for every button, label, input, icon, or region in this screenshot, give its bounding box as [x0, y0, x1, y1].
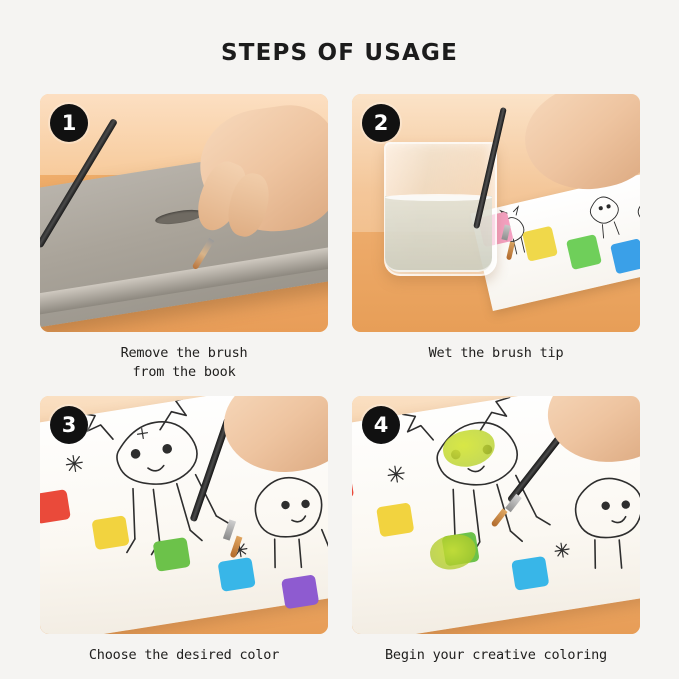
page-title: STEPS OF USAGE	[0, 40, 679, 66]
swatch-red	[352, 467, 355, 502]
caption-line-1: Remove the brush	[40, 344, 328, 363]
swatch-blue	[609, 239, 640, 275]
swatch-yellow	[521, 226, 557, 262]
paint-stroke	[441, 427, 498, 471]
caption-line-1: Wet the brush tip	[352, 344, 640, 363]
swatch-yellow	[376, 502, 414, 537]
swatch-blue	[218, 557, 256, 592]
swatch-blue	[511, 556, 549, 591]
step-2-photo: 2	[352, 94, 640, 332]
steps-grid: 1 Remove the brush from the book	[40, 94, 640, 665]
swatch-red	[40, 489, 71, 524]
step-number-badge-4: 4	[362, 406, 400, 444]
step-4-photo: 4	[352, 396, 640, 634]
swatch-green-selected	[153, 536, 191, 571]
step-3-photo: 3	[40, 396, 328, 634]
swatch-green	[566, 234, 602, 270]
step-4-caption: Begin your creative coloring	[352, 646, 640, 665]
step-card-3: 3 Choose the desired color	[40, 396, 328, 665]
step-2-caption: Wet the brush tip	[352, 344, 640, 363]
swatch-yellow	[92, 515, 130, 550]
caption-line-1: Choose the desired color	[40, 646, 328, 665]
step-1-photo: 1	[40, 94, 328, 332]
steps-of-usage-infographic: STEPS OF USAGE 1 Remove the brush from t…	[0, 0, 679, 679]
step-number-badge-3: 3	[50, 406, 88, 444]
caption-line-1: Begin your creative coloring	[352, 646, 640, 665]
step-1-caption: Remove the brush from the book	[40, 344, 328, 382]
step-card-4: 4 Begin your creative coloring	[352, 396, 640, 665]
step-card-1: 1 Remove the brush from the book	[40, 94, 328, 382]
step-number-badge-1: 1	[50, 104, 88, 142]
caption-line-2: from the book	[40, 363, 328, 382]
swatch-purple	[282, 574, 320, 609]
water-surface	[385, 194, 492, 201]
water	[385, 196, 492, 272]
step-card-2: 2 Wet the brush tip	[352, 94, 640, 382]
step-number-badge-2: 2	[362, 104, 400, 142]
step-3-caption: Choose the desired color	[40, 646, 328, 665]
